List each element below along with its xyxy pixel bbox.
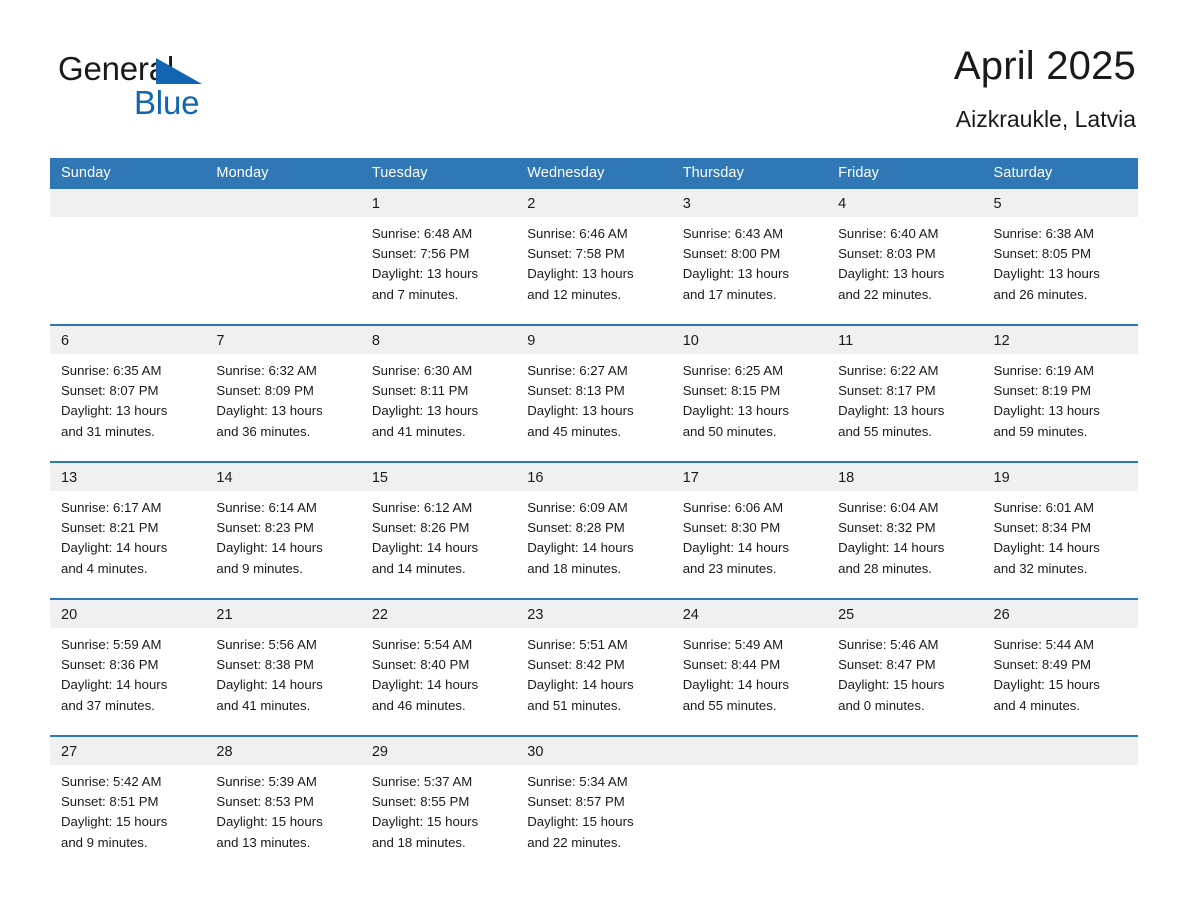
- daylight-text-line1: Daylight: 13 hours: [216, 401, 352, 421]
- day-cell-inner: [827, 737, 982, 859]
- daylight-text-line1: Daylight: 13 hours: [994, 401, 1130, 421]
- day-details: Sunrise: 6:46 AMSunset: 7:58 PMDaylight:…: [516, 217, 671, 305]
- sunrise-text: Sunrise: 6:32 AM: [216, 361, 352, 381]
- sunset-text: Sunset: 8:15 PM: [683, 381, 819, 401]
- day-number: 2: [516, 189, 671, 217]
- sunset-text: Sunset: 7:56 PM: [372, 244, 508, 264]
- daylight-text-line2: and 41 minutes.: [216, 696, 352, 716]
- sunset-text: Sunset: 8:03 PM: [838, 244, 974, 264]
- calendar-day-cell[interactable]: 20Sunrise: 5:59 AMSunset: 8:36 PMDayligh…: [50, 599, 205, 735]
- day-details: Sunrise: 6:12 AMSunset: 8:26 PMDaylight:…: [361, 491, 516, 579]
- daylight-text-line2: and 50 minutes.: [683, 422, 819, 442]
- day-cell-inner: 22Sunrise: 5:54 AMSunset: 8:40 PMDayligh…: [361, 600, 516, 735]
- daylight-text-line1: Daylight: 14 hours: [683, 675, 819, 695]
- calendar-day-cell[interactable]: 23Sunrise: 5:51 AMSunset: 8:42 PMDayligh…: [516, 599, 671, 735]
- day-number: 10: [672, 326, 827, 354]
- sunset-text: Sunset: 8:13 PM: [527, 381, 663, 401]
- day-details: Sunrise: 5:51 AMSunset: 8:42 PMDaylight:…: [516, 628, 671, 716]
- day-cell-inner: [983, 737, 1138, 859]
- sunrise-text: Sunrise: 6:48 AM: [372, 224, 508, 244]
- sunrise-text: Sunrise: 5:59 AM: [61, 635, 197, 655]
- daylight-text-line2: and 31 minutes.: [61, 422, 197, 442]
- sunrise-text: Sunrise: 6:30 AM: [372, 361, 508, 381]
- day-details: Sunrise: 6:17 AMSunset: 8:21 PMDaylight:…: [50, 491, 205, 579]
- weekday-header-monday: Monday: [205, 158, 360, 189]
- daylight-text-line1: Daylight: 14 hours: [683, 538, 819, 558]
- page-title: April 2025: [954, 40, 1136, 92]
- daylight-text-line1: Daylight: 13 hours: [372, 264, 508, 284]
- day-details: Sunrise: 6:04 AMSunset: 8:32 PMDaylight:…: [827, 491, 982, 579]
- calendar-day-cell[interactable]: 8Sunrise: 6:30 AMSunset: 8:11 PMDaylight…: [361, 325, 516, 461]
- day-number: 29: [361, 737, 516, 765]
- day-cell-inner: [50, 189, 205, 324]
- calendar-container: SundayMondayTuesdayWednesdayThursdayFrid…: [50, 158, 1138, 859]
- sunset-text: Sunset: 8:38 PM: [216, 655, 352, 675]
- day-details: Sunrise: 6:09 AMSunset: 8:28 PMDaylight:…: [516, 491, 671, 579]
- day-number: 21: [205, 600, 360, 628]
- daylight-text-line2: and 41 minutes.: [372, 422, 508, 442]
- daylight-text-line1: Daylight: 14 hours: [372, 538, 508, 558]
- day-cell-inner: 25Sunrise: 5:46 AMSunset: 8:47 PMDayligh…: [827, 600, 982, 735]
- calendar-day-cell[interactable]: 29Sunrise: 5:37 AMSunset: 8:55 PMDayligh…: [361, 736, 516, 859]
- weekday-header-row: SundayMondayTuesdayWednesdayThursdayFrid…: [50, 158, 1138, 189]
- day-cell-inner: [205, 189, 360, 324]
- sunset-text: Sunset: 8:51 PM: [61, 792, 197, 812]
- daylight-text-line2: and 22 minutes.: [838, 285, 974, 305]
- calendar-day-cell[interactable]: 30Sunrise: 5:34 AMSunset: 8:57 PMDayligh…: [516, 736, 671, 859]
- day-cell-inner: 9Sunrise: 6:27 AMSunset: 8:13 PMDaylight…: [516, 326, 671, 461]
- location-subtitle: Aizkraukle, Latvia: [954, 102, 1136, 136]
- day-number: 5: [983, 189, 1138, 217]
- daylight-text-line2: and 4 minutes.: [994, 696, 1130, 716]
- day-details: Sunrise: 6:01 AMSunset: 8:34 PMDaylight:…: [983, 491, 1138, 579]
- day-cell-inner: 11Sunrise: 6:22 AMSunset: 8:17 PMDayligh…: [827, 326, 982, 461]
- daylight-text-line2: and 55 minutes.: [683, 696, 819, 716]
- title-block: April 2025 Aizkraukle, Latvia: [954, 40, 1136, 136]
- day-details: Sunrise: 6:48 AMSunset: 7:56 PMDaylight:…: [361, 217, 516, 305]
- sunset-text: Sunset: 8:44 PM: [683, 655, 819, 675]
- daylight-text-line1: Daylight: 15 hours: [994, 675, 1130, 695]
- sunset-text: Sunset: 8:28 PM: [527, 518, 663, 538]
- calendar-week-row: 20Sunrise: 5:59 AMSunset: 8:36 PMDayligh…: [50, 599, 1138, 735]
- day-number: 17: [672, 463, 827, 491]
- general-blue-logo: General Blue: [58, 50, 248, 120]
- calendar-day-cell[interactable]: 7Sunrise: 6:32 AMSunset: 8:09 PMDaylight…: [205, 325, 360, 461]
- day-details: Sunrise: 6:25 AMSunset: 8:15 PMDaylight:…: [672, 354, 827, 442]
- daylight-text-line1: Daylight: 13 hours: [527, 264, 663, 284]
- daylight-text-line2: and 22 minutes.: [527, 833, 663, 853]
- day-cell-inner: 13Sunrise: 6:17 AMSunset: 8:21 PMDayligh…: [50, 463, 205, 598]
- calendar-day-cell[interactable]: 16Sunrise: 6:09 AMSunset: 8:28 PMDayligh…: [516, 462, 671, 598]
- day-details: Sunrise: 5:54 AMSunset: 8:40 PMDaylight:…: [361, 628, 516, 716]
- daylight-text-line2: and 26 minutes.: [994, 285, 1130, 305]
- sunset-text: Sunset: 8:19 PM: [994, 381, 1130, 401]
- day-number: 12: [983, 326, 1138, 354]
- day-cell-inner: 28Sunrise: 5:39 AMSunset: 8:53 PMDayligh…: [205, 737, 360, 859]
- day-details: Sunrise: 5:44 AMSunset: 8:49 PMDaylight:…: [983, 628, 1138, 716]
- calendar-week-row: 27Sunrise: 5:42 AMSunset: 8:51 PMDayligh…: [50, 736, 1138, 859]
- sunset-text: Sunset: 8:23 PM: [216, 518, 352, 538]
- calendar-day-cell[interactable]: 11Sunrise: 6:22 AMSunset: 8:17 PMDayligh…: [827, 325, 982, 461]
- daylight-text-line2: and 0 minutes.: [838, 696, 974, 716]
- sunrise-text: Sunrise: 6:14 AM: [216, 498, 352, 518]
- sunset-text: Sunset: 8:32 PM: [838, 518, 974, 538]
- day-number: [827, 737, 982, 765]
- day-cell-inner: 10Sunrise: 6:25 AMSunset: 8:15 PMDayligh…: [672, 326, 827, 461]
- weekday-header-wednesday: Wednesday: [516, 158, 671, 189]
- daylight-text-line1: Daylight: 14 hours: [838, 538, 974, 558]
- day-cell-inner: 21Sunrise: 5:56 AMSunset: 8:38 PMDayligh…: [205, 600, 360, 735]
- day-number: 18: [827, 463, 982, 491]
- day-number: 11: [827, 326, 982, 354]
- daylight-text-line1: Daylight: 13 hours: [372, 401, 508, 421]
- day-details: Sunrise: 5:46 AMSunset: 8:47 PMDaylight:…: [827, 628, 982, 716]
- daylight-text-line1: Daylight: 14 hours: [216, 538, 352, 558]
- weekday-header-sunday: Sunday: [50, 158, 205, 189]
- calendar-day-cell[interactable]: 4Sunrise: 6:40 AMSunset: 8:03 PMDaylight…: [827, 189, 982, 324]
- calendar-day-cell[interactable]: 15Sunrise: 6:12 AMSunset: 8:26 PMDayligh…: [361, 462, 516, 598]
- sunrise-text: Sunrise: 6:40 AM: [838, 224, 974, 244]
- day-number: 7: [205, 326, 360, 354]
- calendar-day-cell[interactable]: 27Sunrise: 5:42 AMSunset: 8:51 PMDayligh…: [50, 736, 205, 859]
- calendar-day-cell[interactable]: 3Sunrise: 6:43 AMSunset: 8:00 PMDaylight…: [672, 189, 827, 324]
- calendar-day-cell[interactable]: 9Sunrise: 6:27 AMSunset: 8:13 PMDaylight…: [516, 325, 671, 461]
- calendar-day-cell-empty: [672, 736, 827, 859]
- calendar-day-cell[interactable]: 28Sunrise: 5:39 AMSunset: 8:53 PMDayligh…: [205, 736, 360, 859]
- sunset-text: Sunset: 8:09 PM: [216, 381, 352, 401]
- logo-row-general: General: [58, 50, 248, 88]
- sunrise-text: Sunrise: 6:22 AM: [838, 361, 974, 381]
- day-details: Sunrise: 6:40 AMSunset: 8:03 PMDaylight:…: [827, 217, 982, 305]
- page-header: General Blue April 2025 Aizkraukle, Latv…: [50, 40, 1138, 148]
- daylight-text-line2: and 28 minutes.: [838, 559, 974, 579]
- daylight-text-line2: and 18 minutes.: [527, 559, 663, 579]
- sunrise-text: Sunrise: 5:34 AM: [527, 772, 663, 792]
- daylight-text-line2: and 9 minutes.: [61, 833, 197, 853]
- sunset-text: Sunset: 8:00 PM: [683, 244, 819, 264]
- calendar-day-cell[interactable]: 2Sunrise: 6:46 AMSunset: 7:58 PMDaylight…: [516, 189, 671, 324]
- day-number: 23: [516, 600, 671, 628]
- daylight-text-line2: and 45 minutes.: [527, 422, 663, 442]
- sunset-text: Sunset: 8:07 PM: [61, 381, 197, 401]
- day-number: 19: [983, 463, 1138, 491]
- calendar-day-cell[interactable]: 6Sunrise: 6:35 AMSunset: 8:07 PMDaylight…: [50, 325, 205, 461]
- sunset-text: Sunset: 8:42 PM: [527, 655, 663, 675]
- daylight-text-line1: Daylight: 14 hours: [994, 538, 1130, 558]
- sunset-text: Sunset: 8:05 PM: [994, 244, 1130, 264]
- daylight-text-line1: Daylight: 13 hours: [838, 401, 974, 421]
- sunrise-text: Sunrise: 5:39 AM: [216, 772, 352, 792]
- day-details: Sunrise: 6:27 AMSunset: 8:13 PMDaylight:…: [516, 354, 671, 442]
- sunset-text: Sunset: 8:40 PM: [372, 655, 508, 675]
- daylight-text-line1: Daylight: 14 hours: [61, 538, 197, 558]
- day-number: 1: [361, 189, 516, 217]
- sunset-text: Sunset: 8:49 PM: [994, 655, 1130, 675]
- day-number: 24: [672, 600, 827, 628]
- calendar-day-cell[interactable]: 13Sunrise: 6:17 AMSunset: 8:21 PMDayligh…: [50, 462, 205, 598]
- weekday-header-saturday: Saturday: [983, 158, 1138, 189]
- day-cell-inner: 24Sunrise: 5:49 AMSunset: 8:44 PMDayligh…: [672, 600, 827, 735]
- sunset-text: Sunset: 7:58 PM: [527, 244, 663, 264]
- daylight-text-line2: and 14 minutes.: [372, 559, 508, 579]
- sunrise-text: Sunrise: 6:17 AM: [61, 498, 197, 518]
- daylight-text-line2: and 12 minutes.: [527, 285, 663, 305]
- sunrise-text: Sunrise: 6:38 AM: [994, 224, 1130, 244]
- day-details: Sunrise: 5:39 AMSunset: 8:53 PMDaylight:…: [205, 765, 360, 853]
- daylight-text-line2: and 55 minutes.: [838, 422, 974, 442]
- calendar-day-cell-empty: [827, 736, 982, 859]
- daylight-text-line1: Daylight: 13 hours: [994, 264, 1130, 284]
- day-number: 3: [672, 189, 827, 217]
- day-details: Sunrise: 5:37 AMSunset: 8:55 PMDaylight:…: [361, 765, 516, 853]
- day-number: 16: [516, 463, 671, 491]
- sunset-text: Sunset: 8:11 PM: [372, 381, 508, 401]
- calendar-table: SundayMondayTuesdayWednesdayThursdayFrid…: [50, 158, 1138, 859]
- daylight-text-line1: Daylight: 13 hours: [527, 401, 663, 421]
- daylight-text-line2: and 9 minutes.: [216, 559, 352, 579]
- day-details: Sunrise: 5:49 AMSunset: 8:44 PMDaylight:…: [672, 628, 827, 716]
- daylight-text-line1: Daylight: 14 hours: [216, 675, 352, 695]
- sunrise-text: Sunrise: 6:01 AM: [994, 498, 1130, 518]
- daylight-text-line2: and 7 minutes.: [372, 285, 508, 305]
- calendar-day-cell[interactable]: 25Sunrise: 5:46 AMSunset: 8:47 PMDayligh…: [827, 599, 982, 735]
- daylight-text-line1: Daylight: 13 hours: [61, 401, 197, 421]
- day-number: 25: [827, 600, 982, 628]
- sunset-text: Sunset: 8:57 PM: [527, 792, 663, 812]
- day-cell-inner: 29Sunrise: 5:37 AMSunset: 8:55 PMDayligh…: [361, 737, 516, 859]
- day-number: 14: [205, 463, 360, 491]
- calendar-day-cell[interactable]: 14Sunrise: 6:14 AMSunset: 8:23 PMDayligh…: [205, 462, 360, 598]
- sunset-text: Sunset: 8:34 PM: [994, 518, 1130, 538]
- sunrise-text: Sunrise: 5:37 AM: [372, 772, 508, 792]
- day-cell-inner: [672, 737, 827, 859]
- sunrise-text: Sunrise: 5:44 AM: [994, 635, 1130, 655]
- sunrise-text: Sunrise: 5:51 AM: [527, 635, 663, 655]
- day-details: Sunrise: 6:32 AMSunset: 8:09 PMDaylight:…: [205, 354, 360, 442]
- day-details: Sunrise: 6:43 AMSunset: 8:00 PMDaylight:…: [672, 217, 827, 305]
- calendar-day-cell[interactable]: 17Sunrise: 6:06 AMSunset: 8:30 PMDayligh…: [672, 462, 827, 598]
- day-details: Sunrise: 6:30 AMSunset: 8:11 PMDaylight:…: [361, 354, 516, 442]
- sunrise-text: Sunrise: 5:56 AM: [216, 635, 352, 655]
- calendar-day-cell-empty: [50, 189, 205, 324]
- sunrise-text: Sunrise: 6:43 AM: [683, 224, 819, 244]
- daylight-text-line1: Daylight: 13 hours: [838, 264, 974, 284]
- sunrise-text: Sunrise: 6:19 AM: [994, 361, 1130, 381]
- logo-triangle-icon: [156, 58, 202, 84]
- daylight-text-line2: and 18 minutes.: [372, 833, 508, 853]
- sunset-text: Sunset: 8:47 PM: [838, 655, 974, 675]
- sunrise-text: Sunrise: 6:06 AM: [683, 498, 819, 518]
- sunrise-text: Sunrise: 5:54 AM: [372, 635, 508, 655]
- daylight-text-line2: and 59 minutes.: [994, 422, 1130, 442]
- sunrise-text: Sunrise: 5:46 AM: [838, 635, 974, 655]
- daylight-text-line1: Daylight: 14 hours: [527, 675, 663, 695]
- daylight-text-line1: Daylight: 15 hours: [61, 812, 197, 832]
- day-cell-inner: 1Sunrise: 6:48 AMSunset: 7:56 PMDaylight…: [361, 189, 516, 324]
- day-details: Sunrise: 6:35 AMSunset: 8:07 PMDaylight:…: [50, 354, 205, 442]
- day-details: Sunrise: 5:59 AMSunset: 8:36 PMDaylight:…: [50, 628, 205, 716]
- daylight-text-line1: Daylight: 14 hours: [527, 538, 663, 558]
- calendar-day-cell[interactable]: 22Sunrise: 5:54 AMSunset: 8:40 PMDayligh…: [361, 599, 516, 735]
- calendar-week-row: 13Sunrise: 6:17 AMSunset: 8:21 PMDayligh…: [50, 462, 1138, 598]
- daylight-text-line1: Daylight: 13 hours: [683, 264, 819, 284]
- calendar-body: 1Sunrise: 6:48 AMSunset: 7:56 PMDaylight…: [50, 189, 1138, 859]
- day-number: 6: [50, 326, 205, 354]
- calendar-head: SundayMondayTuesdayWednesdayThursdayFrid…: [50, 158, 1138, 189]
- day-cell-inner: 30Sunrise: 5:34 AMSunset: 8:57 PMDayligh…: [516, 737, 671, 859]
- daylight-text-line2: and 37 minutes.: [61, 696, 197, 716]
- calendar-day-cell[interactable]: 18Sunrise: 6:04 AMSunset: 8:32 PMDayligh…: [827, 462, 982, 598]
- day-cell-inner: 8Sunrise: 6:30 AMSunset: 8:11 PMDaylight…: [361, 326, 516, 461]
- sunrise-text: Sunrise: 6:46 AM: [527, 224, 663, 244]
- day-number: [205, 189, 360, 217]
- day-number: 13: [50, 463, 205, 491]
- weekday-header-thursday: Thursday: [672, 158, 827, 189]
- day-details: Sunrise: 6:06 AMSunset: 8:30 PMDaylight:…: [672, 491, 827, 579]
- calendar-day-cell-empty: [205, 189, 360, 324]
- sunset-text: Sunset: 8:21 PM: [61, 518, 197, 538]
- calendar-day-cell[interactable]: 5Sunrise: 6:38 AMSunset: 8:05 PMDaylight…: [983, 189, 1138, 324]
- day-cell-inner: 20Sunrise: 5:59 AMSunset: 8:36 PMDayligh…: [50, 600, 205, 735]
- day-details: Sunrise: 6:22 AMSunset: 8:17 PMDaylight:…: [827, 354, 982, 442]
- sunset-text: Sunset: 8:30 PM: [683, 518, 819, 538]
- day-cell-inner: 5Sunrise: 6:38 AMSunset: 8:05 PMDaylight…: [983, 189, 1138, 324]
- weekday-header-tuesday: Tuesday: [361, 158, 516, 189]
- day-cell-inner: 6Sunrise: 6:35 AMSunset: 8:07 PMDaylight…: [50, 326, 205, 461]
- day-cell-inner: 3Sunrise: 6:43 AMSunset: 8:00 PMDaylight…: [672, 189, 827, 324]
- day-details: Sunrise: 5:34 AMSunset: 8:57 PMDaylight:…: [516, 765, 671, 853]
- daylight-text-line1: Daylight: 14 hours: [372, 675, 508, 695]
- day-details: Sunrise: 6:19 AMSunset: 8:19 PMDaylight:…: [983, 354, 1138, 442]
- day-cell-inner: 12Sunrise: 6:19 AMSunset: 8:19 PMDayligh…: [983, 326, 1138, 461]
- day-cell-inner: 16Sunrise: 6:09 AMSunset: 8:28 PMDayligh…: [516, 463, 671, 598]
- sunset-text: Sunset: 8:17 PM: [838, 381, 974, 401]
- day-number: [672, 737, 827, 765]
- sunrise-text: Sunrise: 6:27 AM: [527, 361, 663, 381]
- calendar-day-cell[interactable]: 24Sunrise: 5:49 AMSunset: 8:44 PMDayligh…: [672, 599, 827, 735]
- day-cell-inner: 2Sunrise: 6:46 AMSunset: 7:58 PMDaylight…: [516, 189, 671, 324]
- calendar-day-cell[interactable]: 1Sunrise: 6:48 AMSunset: 7:56 PMDaylight…: [361, 189, 516, 324]
- day-details: Sunrise: 6:14 AMSunset: 8:23 PMDaylight:…: [205, 491, 360, 579]
- daylight-text-line1: Daylight: 15 hours: [527, 812, 663, 832]
- day-number: 4: [827, 189, 982, 217]
- day-cell-inner: 19Sunrise: 6:01 AMSunset: 8:34 PMDayligh…: [983, 463, 1138, 598]
- daylight-text-line1: Daylight: 14 hours: [61, 675, 197, 695]
- day-number: [983, 737, 1138, 765]
- calendar-day-cell[interactable]: 12Sunrise: 6:19 AMSunset: 8:19 PMDayligh…: [983, 325, 1138, 461]
- sunrise-text: Sunrise: 6:12 AM: [372, 498, 508, 518]
- sunset-text: Sunset: 8:53 PM: [216, 792, 352, 812]
- daylight-text-line1: Daylight: 13 hours: [683, 401, 819, 421]
- day-number: [50, 189, 205, 217]
- daylight-text-line2: and 46 minutes.: [372, 696, 508, 716]
- day-number: 9: [516, 326, 671, 354]
- sunset-text: Sunset: 8:55 PM: [372, 792, 508, 812]
- sunset-text: Sunset: 8:26 PM: [372, 518, 508, 538]
- calendar-day-cell[interactable]: 19Sunrise: 6:01 AMSunset: 8:34 PMDayligh…: [983, 462, 1138, 598]
- day-cell-inner: 17Sunrise: 6:06 AMSunset: 8:30 PMDayligh…: [672, 463, 827, 598]
- day-number: 30: [516, 737, 671, 765]
- day-cell-inner: 4Sunrise: 6:40 AMSunset: 8:03 PMDaylight…: [827, 189, 982, 324]
- daylight-text-line2: and 17 minutes.: [683, 285, 819, 305]
- sunrise-text: Sunrise: 6:35 AM: [61, 361, 197, 381]
- daylight-text-line2: and 23 minutes.: [683, 559, 819, 579]
- calendar-week-row: 1Sunrise: 6:48 AMSunset: 7:56 PMDaylight…: [50, 189, 1138, 324]
- sunrise-text: Sunrise: 6:09 AM: [527, 498, 663, 518]
- daylight-text-line2: and 51 minutes.: [527, 696, 663, 716]
- daylight-text-line2: and 32 minutes.: [994, 559, 1130, 579]
- day-number: 20: [50, 600, 205, 628]
- sunrise-text: Sunrise: 6:25 AM: [683, 361, 819, 381]
- daylight-text-line2: and 13 minutes.: [216, 833, 352, 853]
- daylight-text-line1: Daylight: 15 hours: [838, 675, 974, 695]
- sunrise-text: Sunrise: 5:49 AM: [683, 635, 819, 655]
- day-number: 27: [50, 737, 205, 765]
- day-cell-inner: 26Sunrise: 5:44 AMSunset: 8:49 PMDayligh…: [983, 600, 1138, 735]
- daylight-text-line1: Daylight: 15 hours: [372, 812, 508, 832]
- day-details: Sunrise: 5:56 AMSunset: 8:38 PMDaylight:…: [205, 628, 360, 716]
- calendar-page: General Blue April 2025 Aizkraukle, Latv…: [0, 0, 1188, 918]
- day-number: 22: [361, 600, 516, 628]
- sunrise-text: Sunrise: 5:42 AM: [61, 772, 197, 792]
- weekday-header-friday: Friday: [827, 158, 982, 189]
- day-cell-inner: 27Sunrise: 5:42 AMSunset: 8:51 PMDayligh…: [50, 737, 205, 859]
- daylight-text-line2: and 4 minutes.: [61, 559, 197, 579]
- day-number: 26: [983, 600, 1138, 628]
- day-number: 8: [361, 326, 516, 354]
- day-number: 28: [205, 737, 360, 765]
- logo-word-blue: Blue: [58, 84, 248, 122]
- day-cell-inner: 18Sunrise: 6:04 AMSunset: 8:32 PMDayligh…: [827, 463, 982, 598]
- calendar-week-row: 6Sunrise: 6:35 AMSunset: 8:07 PMDaylight…: [50, 325, 1138, 461]
- calendar-day-cell-empty: [983, 736, 1138, 859]
- sunrise-text: Sunrise: 6:04 AM: [838, 498, 974, 518]
- day-number: 15: [361, 463, 516, 491]
- day-cell-inner: 23Sunrise: 5:51 AMSunset: 8:42 PMDayligh…: [516, 600, 671, 735]
- day-details: Sunrise: 6:38 AMSunset: 8:05 PMDaylight:…: [983, 217, 1138, 305]
- day-cell-inner: 14Sunrise: 6:14 AMSunset: 8:23 PMDayligh…: [205, 463, 360, 598]
- calendar-day-cell[interactable]: 26Sunrise: 5:44 AMSunset: 8:49 PMDayligh…: [983, 599, 1138, 735]
- calendar-day-cell[interactable]: 10Sunrise: 6:25 AMSunset: 8:15 PMDayligh…: [672, 325, 827, 461]
- day-cell-inner: 15Sunrise: 6:12 AMSunset: 8:26 PMDayligh…: [361, 463, 516, 598]
- day-cell-inner: 7Sunrise: 6:32 AMSunset: 8:09 PMDaylight…: [205, 326, 360, 461]
- sunset-text: Sunset: 8:36 PM: [61, 655, 197, 675]
- calendar-day-cell[interactable]: 21Sunrise: 5:56 AMSunset: 8:38 PMDayligh…: [205, 599, 360, 735]
- day-details: Sunrise: 5:42 AMSunset: 8:51 PMDaylight:…: [50, 765, 205, 853]
- daylight-text-line2: and 36 minutes.: [216, 422, 352, 442]
- daylight-text-line1: Daylight: 15 hours: [216, 812, 352, 832]
